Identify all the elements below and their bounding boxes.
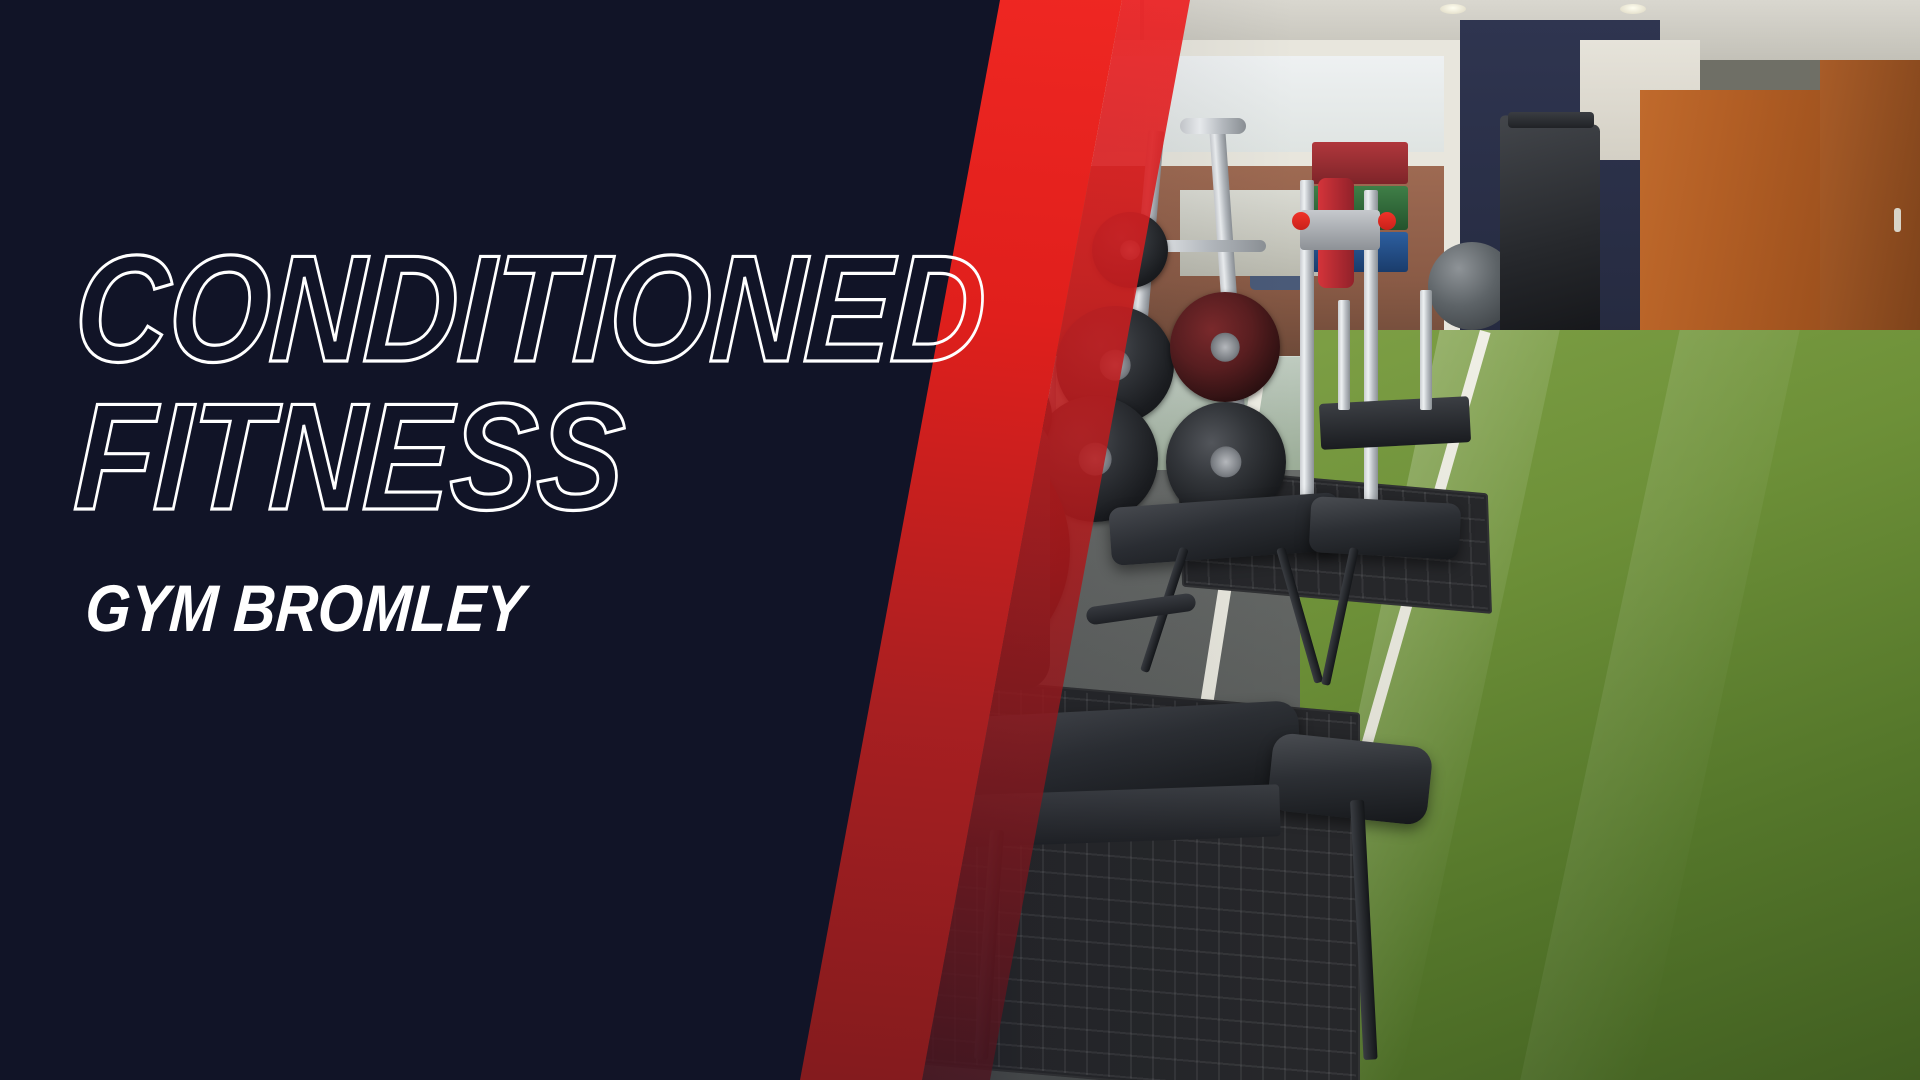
weight-plate-red: [1170, 292, 1280, 402]
ceiling-light-icon: [1440, 4, 1466, 14]
wooden-door: [1640, 90, 1820, 370]
rack-knob-red: [1292, 212, 1310, 230]
wooden-door-right: [1820, 60, 1920, 350]
door-handle: [1894, 208, 1901, 232]
ceiling-light-icon: [1620, 4, 1646, 14]
sled-post: [1420, 290, 1432, 410]
plate-rack-frame: [1180, 118, 1246, 134]
treadmill: [1500, 115, 1600, 356]
adjustable-bench-backrest: [1309, 496, 1462, 560]
rack-clamp: [1300, 210, 1380, 250]
rack-knob-red: [1378, 212, 1396, 230]
hero-banner: CONDITIONED FITNESS GYM BROMLEY: [0, 0, 1920, 1080]
treadmill-handle: [1508, 112, 1594, 128]
sled-post: [1338, 300, 1350, 410]
turf-highlight: [1520, 330, 1799, 1080]
